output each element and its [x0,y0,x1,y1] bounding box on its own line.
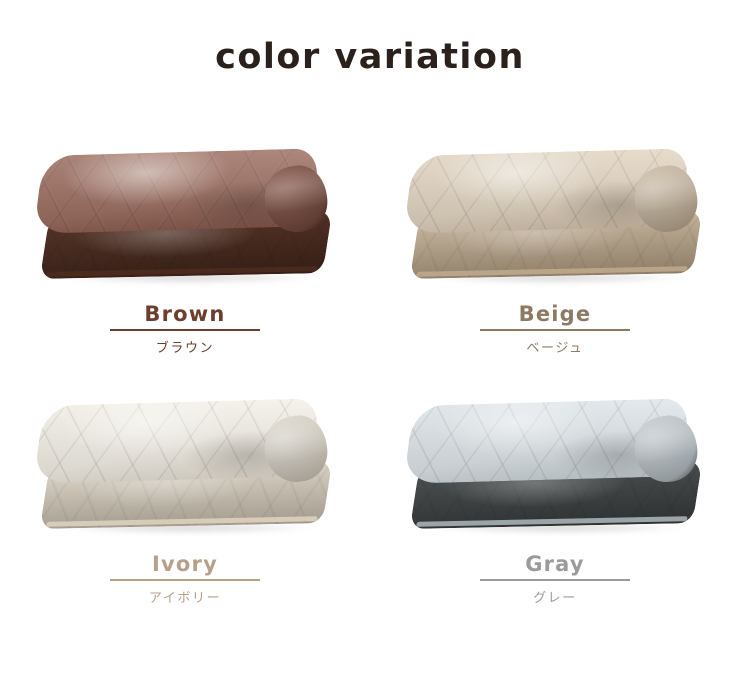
product-image-ivory [35,390,335,540]
color-name-en: Ivory [35,552,335,576]
folded-edge-roll [631,412,702,486]
page-title: color variation [0,38,740,77]
color-name-ja: ベージュ [405,337,705,356]
color-swatch-gray[interactable]: Gray グレー [370,390,740,640]
color-label-brown: Brown ブラウン [35,302,335,356]
mattress-pad-illustration [35,390,335,540]
color-swatch-ivory[interactable]: Ivory アイボリー [0,390,370,640]
color-label-gray: Gray グレー [405,552,705,606]
color-swatch-beige[interactable]: Beige ベージュ [370,140,740,390]
folded-edge-roll [261,162,332,236]
mattress-pad-illustration [35,140,335,290]
color-label-beige: Beige ベージュ [405,302,705,356]
label-underline [110,579,260,581]
color-variation-page: color variation [0,0,740,692]
product-image-brown [35,140,335,290]
color-swatch-grid: Brown ブラウン [0,140,740,640]
folded-edge-roll [261,412,332,486]
color-name-en: Beige [405,302,705,326]
label-underline [480,579,630,581]
color-name-en: Brown [35,302,335,326]
folded-edge-roll [631,162,702,236]
product-image-gray [405,390,705,540]
label-underline [480,329,630,331]
color-name-ja: アイボリー [35,587,335,606]
label-underline [110,329,260,331]
mattress-pad-illustration [405,390,705,540]
color-swatch-brown[interactable]: Brown ブラウン [0,140,370,390]
color-name-en: Gray [405,552,705,576]
color-label-ivory: Ivory アイボリー [35,552,335,606]
color-name-ja: ブラウン [35,337,335,356]
color-name-ja: グレー [405,587,705,606]
mattress-pad-illustration [405,140,705,290]
product-image-beige [405,140,705,290]
